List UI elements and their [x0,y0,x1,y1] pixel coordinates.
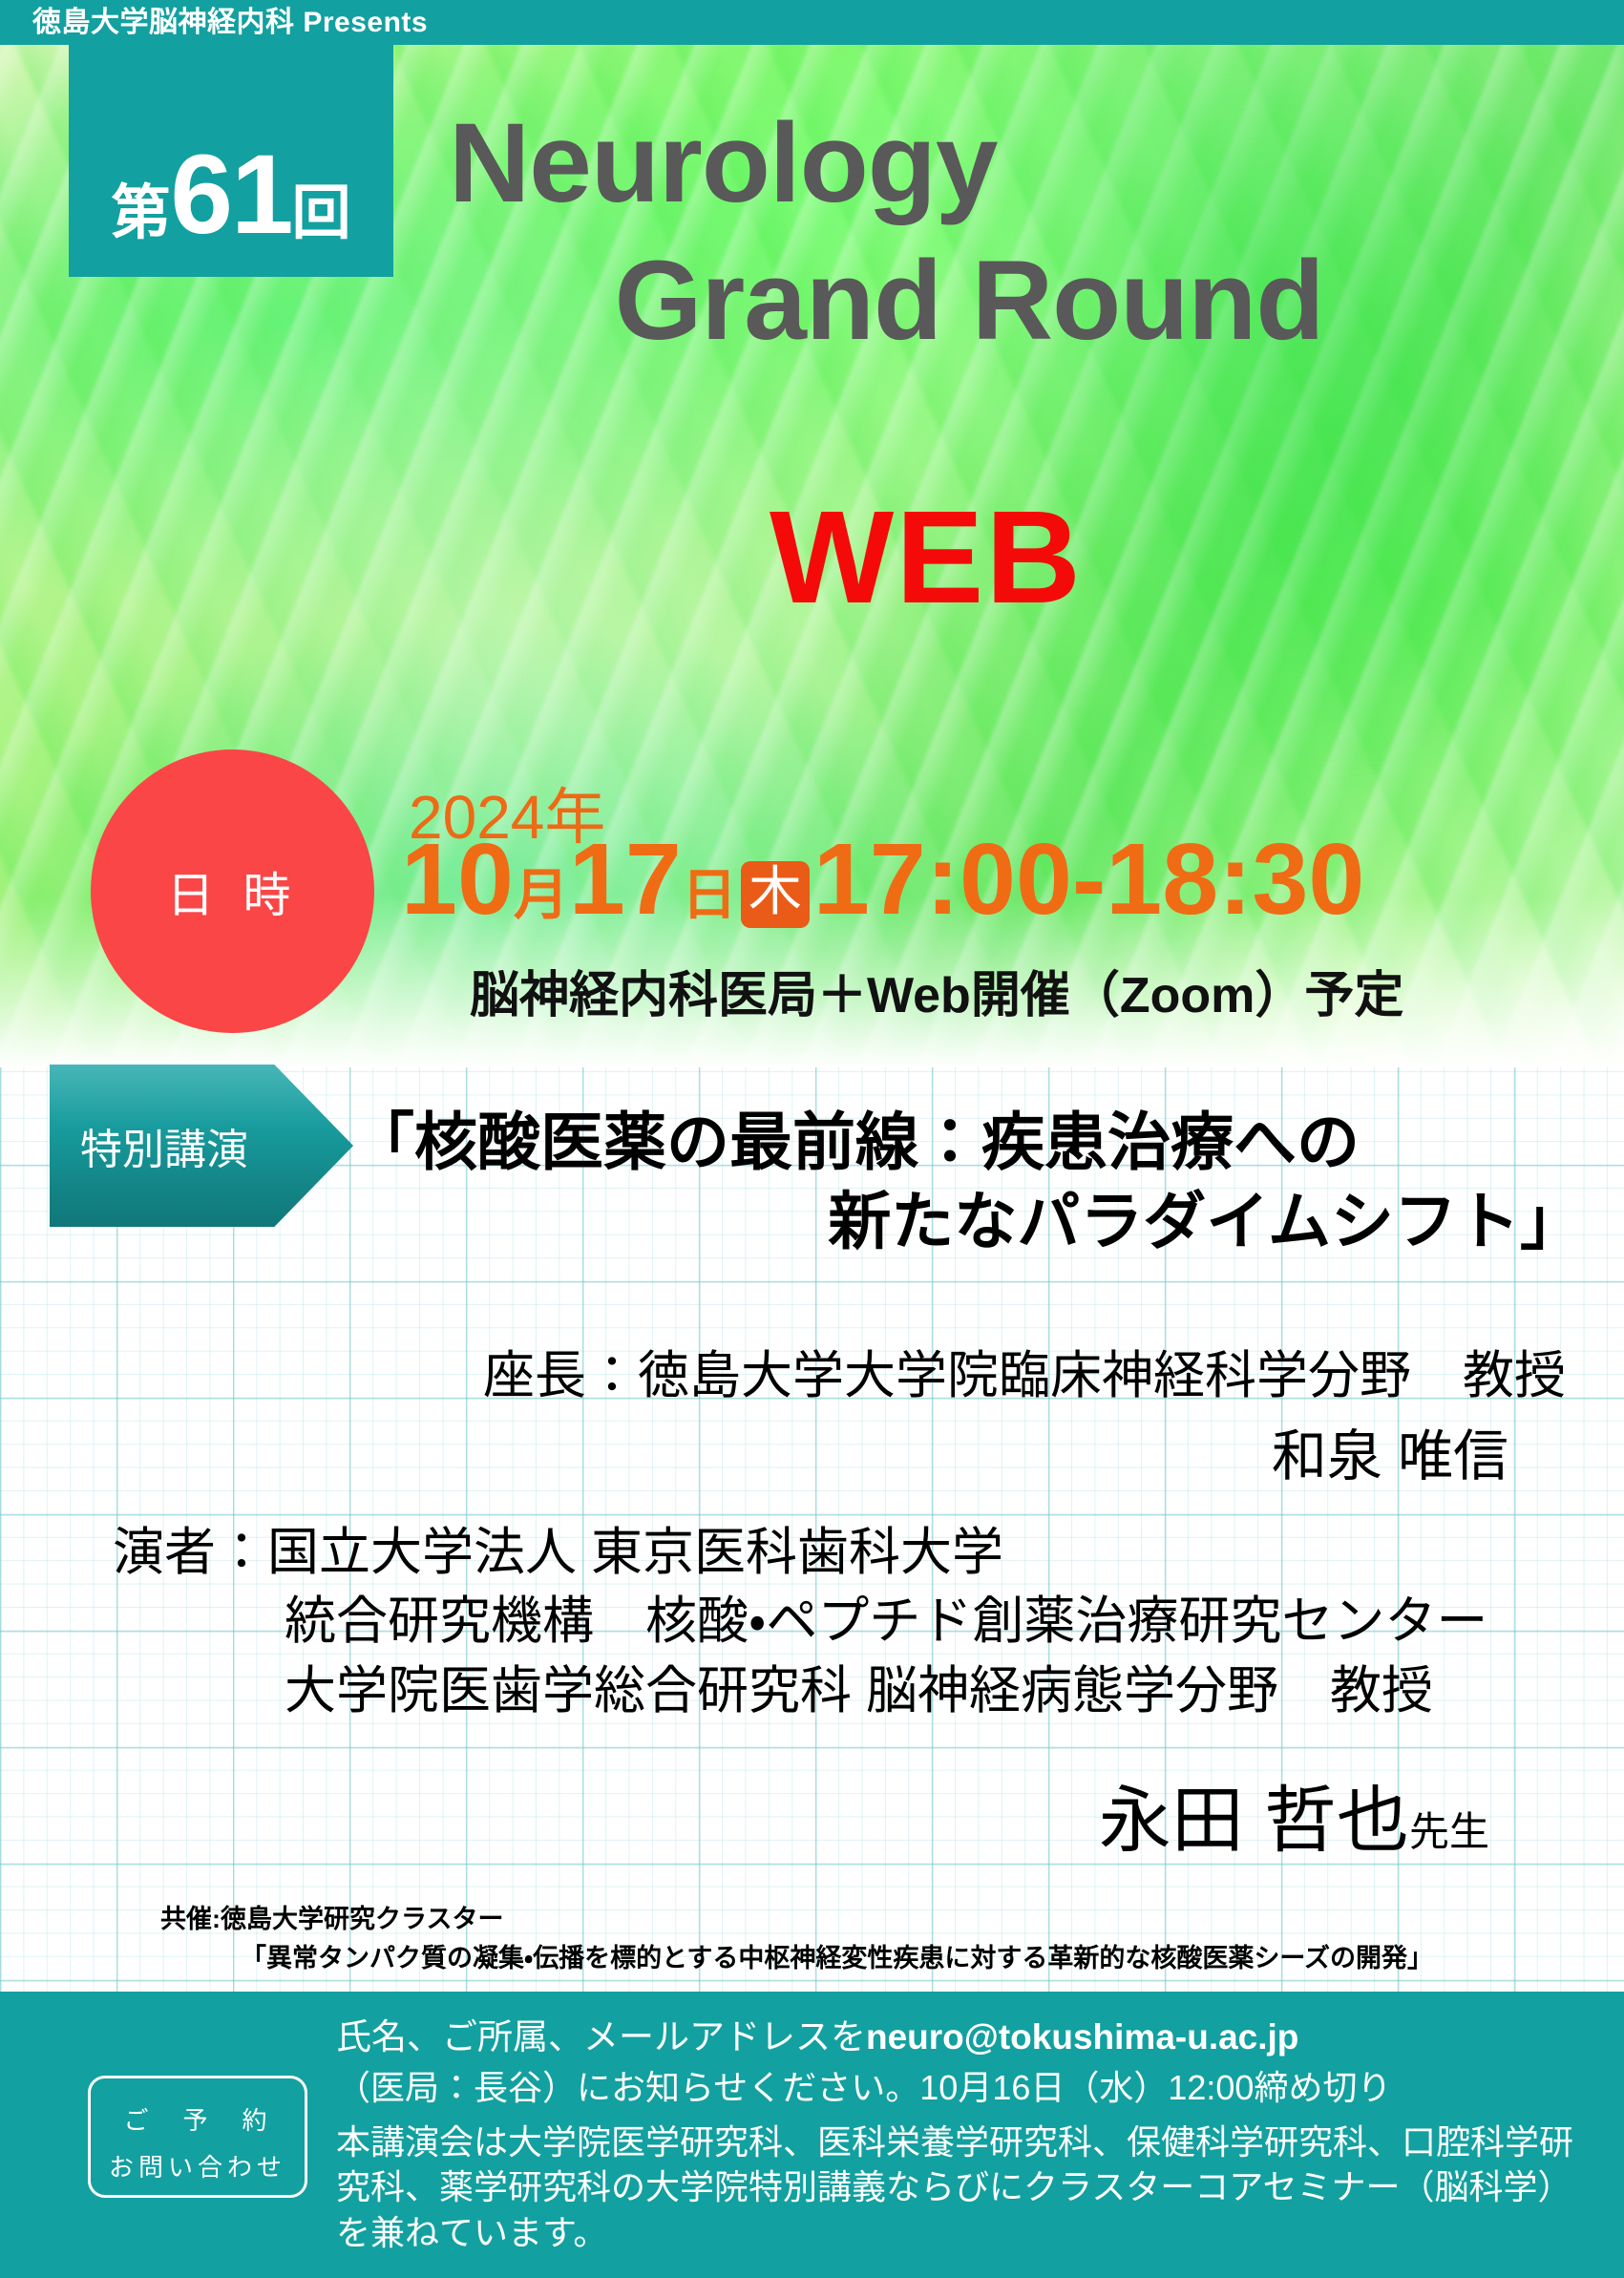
web-label: WEB [449,492,1403,623]
presents-text: 徳島大学脳神経内科 Presents [32,2,428,44]
edition-suffix: 回 [292,180,351,246]
event-dayofweek-badge: 木 [741,861,810,928]
edition-prefix: 第 [111,180,170,246]
lecture-title-line-2: 新たなパラダイムシフト」 [351,1182,1583,1261]
cohost-note: 共催:徳島大学研究クラスター 「異常タンパク質の凝集・伝播を標的とする中枢神経変… [160,1900,1554,1977]
cohost-line-1: 共催:徳島大学研究クラスター [160,1905,503,1933]
top-teal-strip: 徳島大学脳神経内科 Presents [0,0,1624,45]
reservation-box: ご 予 約 お問い合わせ [88,2076,307,2198]
reservation-label-line-2: お問い合わせ [91,2144,305,2191]
speaker-affiliation-line-1: 演者：国立大学法人 東京医科歯科大学 [113,1524,1003,1581]
chair-name: 和泉 唯信 [0,1411,1508,1491]
poster-root: 徳島大学脳神経内科 Presents 第61回 Neurology Grand … [0,0,1624,2278]
edition-number: 61 [170,132,291,258]
speaker-affiliation-line-3: 大学院医歯学総合研究科 脳神経病態学分野 教授 [113,1656,1564,1725]
event-month: 10 [401,823,514,936]
footer-note: 本講演会は大学院医学研究科、医科栄養学研究科、保健科学研究科、口腔科学研究科、薬… [336,2120,1596,2256]
cohost-line-2: 「異常タンパク質の凝集・伝播を標的とする中枢神経変性疾患に対する革新的な核酸医薬… [160,1939,1554,1978]
speaker-name-text: 永田 哲也 [1099,1781,1409,1862]
speaker-affiliation: 演者：国立大学法人 東京医科歯科大学 統合研究機構 核酸・ペプチド創薬治療研究セ… [113,1518,1564,1725]
event-date-line: 10月17日木17:00-18:30 [401,829,1364,930]
datetime-label: 日 時 [91,857,374,926]
lecture-title: 「核酸医薬の最前線：疾患治療への 新たなパラダイムシフト」 [351,1103,1583,1261]
reservation-label-line-1: ご 予 約 [91,2098,305,2144]
footer-text: 氏名、ご所属、メールアドレスをneuro@tokushima-u.ac.jp （… [336,2013,1596,2255]
edition-badge: 第61回 [69,45,393,277]
event-day-unit: 日 [682,864,737,926]
event-month-unit: 月 [514,864,569,926]
contact-prefix: 氏名、ご所属、メールアドレスを [336,2017,866,2057]
contact-email[interactable]: neuro@tokushima-u.ac.jp [866,2017,1298,2057]
special-lecture-tag: 特別講演 [50,1065,353,1227]
chair-affiliation: 座長：徳島大学大学院臨床神経科学分野 教授 [0,1341,1566,1411]
title-line-2: Grand Round [449,233,1489,370]
datetime-circle-badge: 日 時 [91,749,374,1033]
lecture-title-line-1: 「核酸医薬の最前線：疾患治療への [351,1107,1360,1177]
event-venue: 脳神経内科医局＋Web開催（Zoom）予定 [470,955,1403,1026]
event-day: 17 [569,823,682,936]
speaker-affiliation-line-2: 統合研究機構 核酸・ペプチド創薬治療研究センター [113,1587,1564,1656]
speaker-name: 永田 哲也先生 [0,1761,1489,1867]
tag-label: 特別講演 [50,1115,279,1176]
contact-deadline: （医局：長谷）にお知らせください。10月16日（水）12:00締め切り [336,2063,1596,2112]
edition-badge-inner: 第61回 [69,130,393,260]
title-line-1: Neurology [449,95,1489,233]
event-time: 17:00-18:30 [813,823,1365,936]
speaker-name-suffix: 先生 [1409,1809,1489,1854]
page-title: Neurology Grand Round [449,95,1489,370]
footer-contact-bar: ご 予 約 お問い合わせ 氏名、ご所属、メールアドレスをneuro@tokush… [0,1992,1624,2278]
